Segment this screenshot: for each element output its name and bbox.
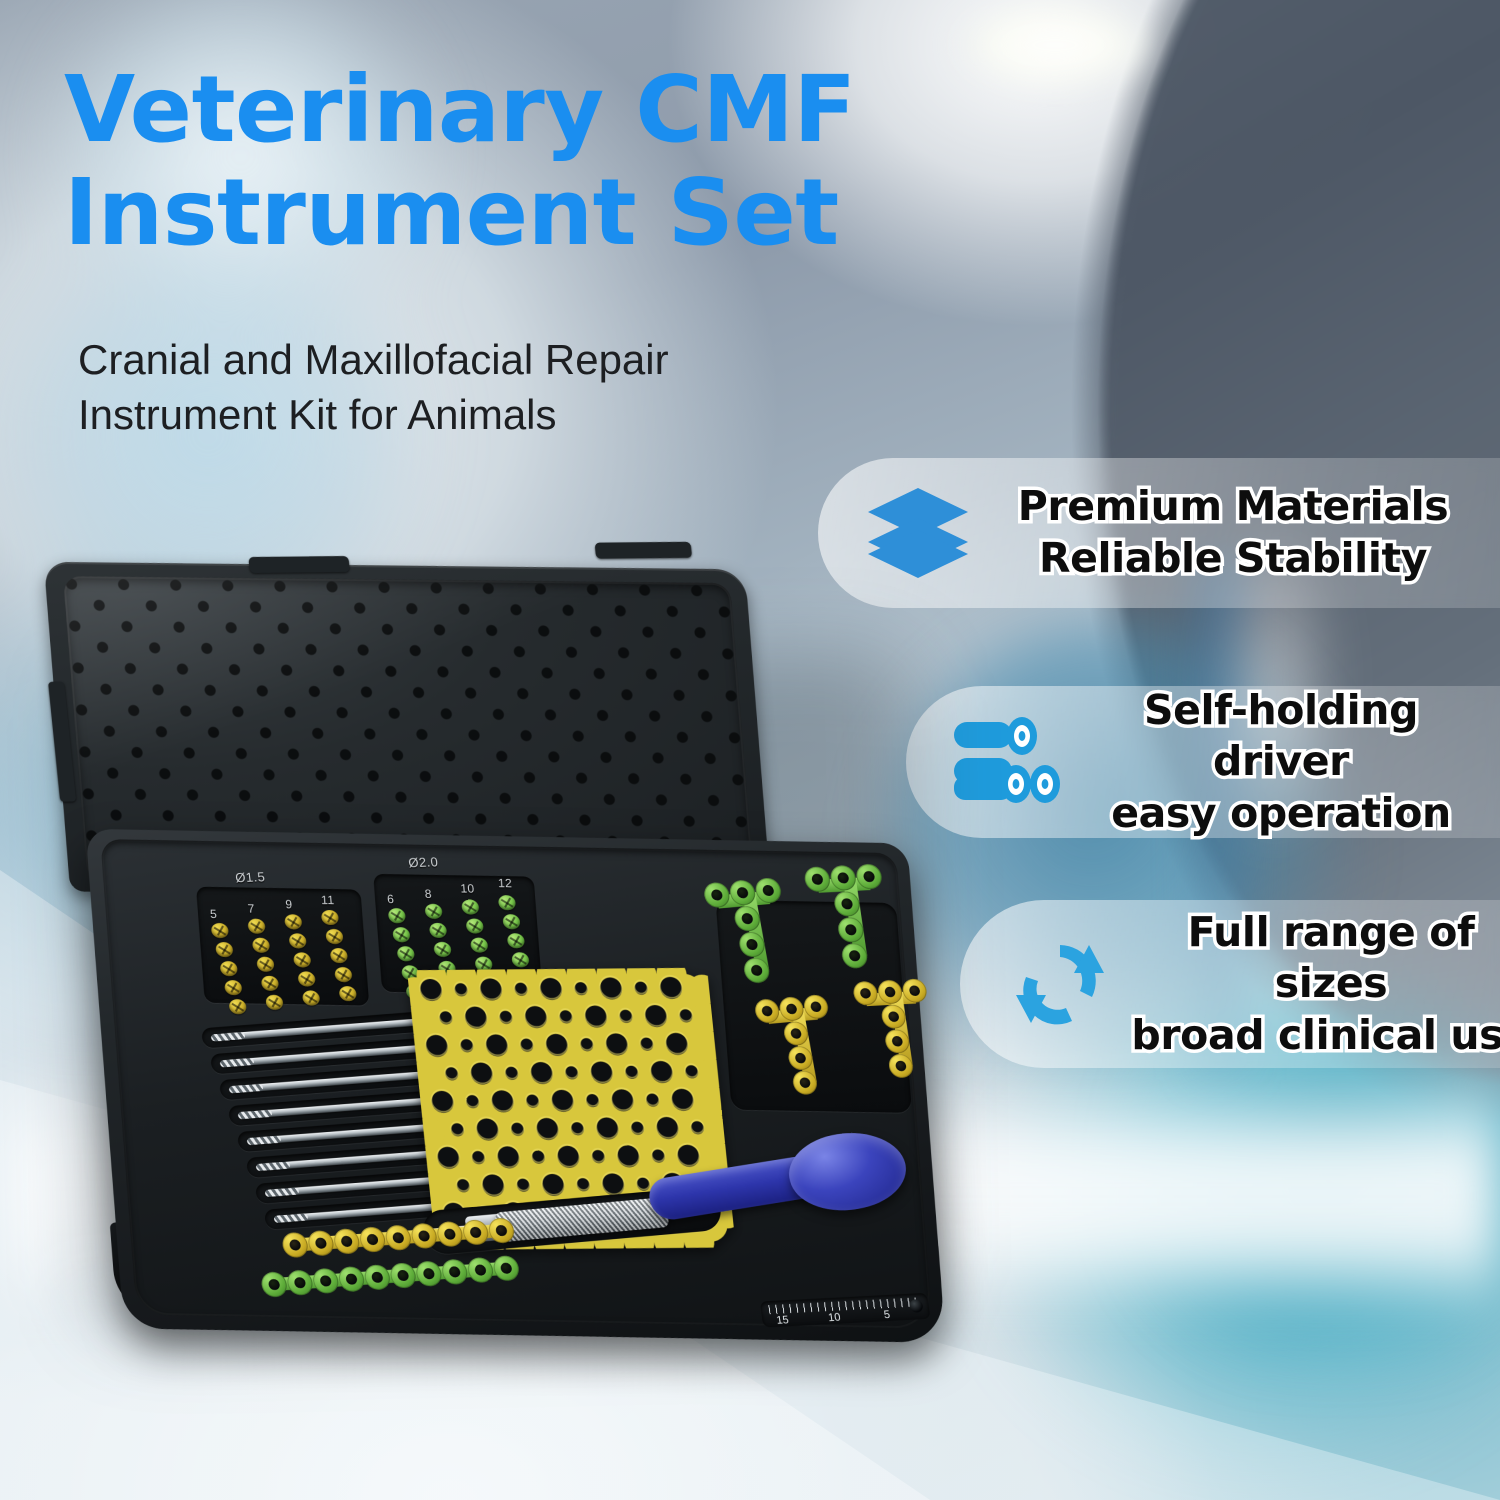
- feature-badge-text: Self-holding driver easy operation: [1072, 685, 1500, 840]
- plate-hole: [466, 1257, 495, 1284]
- case-latch-top-left: [248, 556, 350, 573]
- bone-screw-green: [502, 914, 520, 929]
- bone-screw-green: [388, 908, 406, 923]
- plate-hole: [260, 1271, 289, 1298]
- t-plates-group: [100, 839, 896, 853]
- screw-size-label-6: 6: [387, 892, 395, 906]
- feature-badge-text: Full range of sizes broad clinical use: [1126, 907, 1500, 1062]
- plate-hole: [389, 1262, 418, 1289]
- depth-gauge: 15 10 5: [760, 1293, 931, 1328]
- page-title: Veterinary CMF Instrument Set: [64, 58, 924, 264]
- plate-hole: [281, 1232, 310, 1259]
- bone-screw-gold: [229, 999, 247, 1014]
- bone-screw-gold: [330, 948, 348, 963]
- page-subtitle-line-2: Instrument Kit for Animals: [78, 387, 868, 442]
- product-marketing-banner: Veterinary CMF Instrument Set Cranial an…: [0, 0, 1500, 1500]
- case-tray-floor: Ø1.5 5 7 9 11 Ø2.0 6 8 10 12: [100, 839, 932, 1329]
- drill-bit-rack: [100, 839, 896, 853]
- feature-line-2: broad clinical use: [1126, 1010, 1500, 1062]
- feature-badge-self-holding-driver: Self-holding driver easy operation: [906, 686, 1500, 838]
- depth-gauge-mark-5: 5: [883, 1309, 891, 1321]
- bone-screw-green: [425, 904, 443, 919]
- depth-gauge-mark-15: 15: [776, 1314, 790, 1327]
- screw-size-label-7: 7: [247, 902, 255, 916]
- screw-caddy-2-label: Ø2.0: [407, 854, 439, 870]
- case-latch-top-right: [595, 542, 693, 559]
- plate-hole: [384, 1224, 413, 1251]
- case-base-tray: Ø1.5 5 7 9 11 Ø2.0 6 8 10 12: [85, 829, 945, 1343]
- straight-plates-group: [100, 839, 896, 853]
- screw-size-label-9: 9: [285, 897, 293, 911]
- plate-hole: [286, 1269, 315, 1296]
- depth-gauge-mark-10: 10: [827, 1311, 841, 1324]
- feature-badge-full-range-sizes: Full range of sizes broad clinical use: [960, 900, 1500, 1068]
- plate-hole: [337, 1266, 366, 1293]
- page-title-line-2: Instrument Set: [64, 161, 924, 264]
- screw-size-label-11: 11: [321, 893, 335, 907]
- feature-line-1: Self-holding driver: [1072, 685, 1490, 788]
- plate-hole: [311, 1268, 340, 1295]
- bone-screw-green: [470, 937, 488, 952]
- screw-caddy-2-screws: [100, 839, 896, 853]
- depth-gauge-ticks: [768, 1297, 920, 1314]
- feature-line-1: Full range of sizes: [1126, 907, 1500, 1010]
- depth-gauge-hole: [909, 1299, 924, 1313]
- screw-caddy-1-label: Ø1.5: [234, 869, 266, 885]
- screw-caddy-1-screws: [100, 839, 896, 853]
- bone-screw-green: [507, 933, 525, 948]
- plate-hole: [414, 1260, 443, 1287]
- page-subtitle-line-1: Cranial and Maxillofacial Repair: [78, 332, 868, 387]
- bone-screw-gold: [220, 961, 238, 976]
- bone-screw-gold: [325, 929, 343, 944]
- feature-line-2: easy operation: [1072, 788, 1490, 840]
- bone-screw-gold: [265, 995, 283, 1010]
- feature-line-2: Reliable Stability: [984, 533, 1482, 585]
- bone-screw-green: [433, 942, 451, 957]
- bone-screw-gold: [302, 990, 320, 1005]
- driver-handle-bulb: [781, 1125, 915, 1218]
- bone-screw-gold: [284, 914, 302, 929]
- feature-badge-text: Premium Materials Reliable Stability: [984, 481, 1500, 584]
- bone-screw-gold: [247, 919, 265, 934]
- bone-screw-gold: [215, 942, 233, 957]
- bone-screw-green: [397, 946, 415, 961]
- screw-size-label-5: 5: [210, 907, 218, 921]
- plate-hole: [440, 1259, 469, 1286]
- bone-screw-green: [466, 918, 484, 933]
- plate-hole: [363, 1264, 392, 1291]
- bone-screw-gold: [339, 986, 357, 1001]
- plate-hole: [332, 1228, 361, 1255]
- product-instrument-case: Ø1.5 5 7 9 11 Ø2.0 6 8 10 12: [28, 515, 992, 1385]
- bone-screw-gold: [289, 933, 307, 948]
- bone-screw-green: [429, 923, 447, 938]
- bone-screw-gold: [211, 923, 229, 938]
- bone-screw-gold: [256, 957, 274, 972]
- screw-size-label-12: 12: [497, 876, 512, 890]
- screw-size-label-8: 8: [424, 887, 432, 901]
- screw-size-label-10: 10: [460, 881, 475, 895]
- page-subtitle: Cranial and Maxillofacial Repair Instrum…: [78, 332, 868, 443]
- bone-screw-green: [392, 927, 410, 942]
- bone-screw-green: [461, 899, 479, 914]
- bone-screw-gold: [252, 938, 270, 953]
- surgical-lamp-icon: [960, 2, 1150, 88]
- bone-screw-gold: [261, 976, 279, 991]
- bone-screw-gold: [298, 971, 316, 986]
- bone-screw-green: [498, 895, 516, 910]
- bone-screw-gold: [334, 967, 352, 982]
- plate-hole: [358, 1226, 387, 1253]
- page-title-line-1: Veterinary CMF: [64, 58, 924, 161]
- bone-screw-green: [511, 952, 529, 967]
- plate-hole: [492, 1255, 521, 1282]
- feature-line-1: Premium Materials: [984, 481, 1482, 533]
- bone-screw-gold: [293, 952, 311, 967]
- bone-screw-gold: [321, 910, 339, 925]
- plate-hole: [306, 1230, 335, 1257]
- refresh-cycle-icon: [994, 931, 1126, 1037]
- bone-screw-gold: [224, 980, 242, 995]
